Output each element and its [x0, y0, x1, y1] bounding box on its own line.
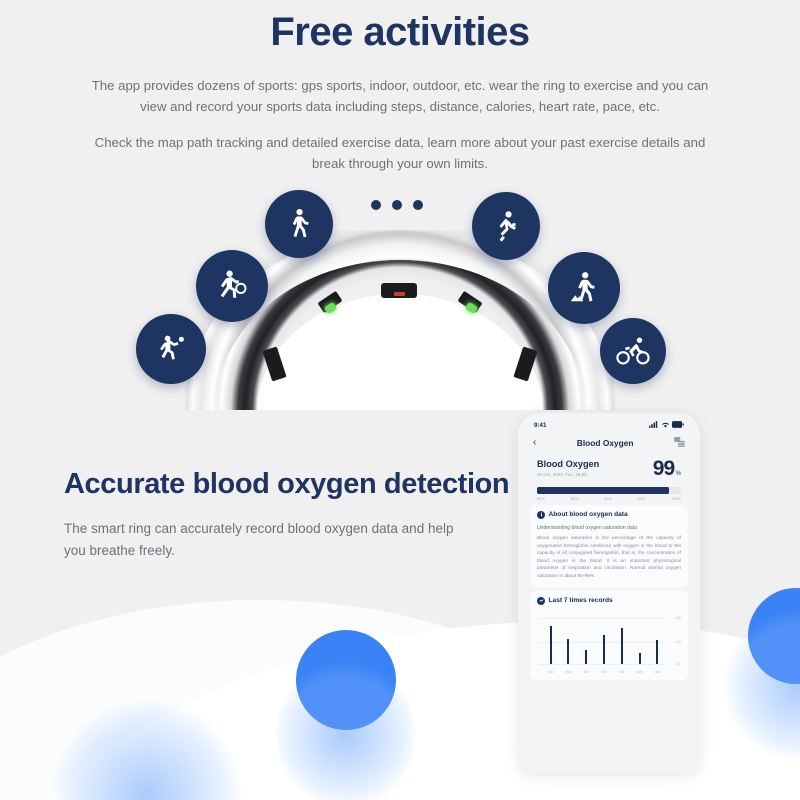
activities-paragraph-2: Check the map path tracking and detailed… [90, 132, 710, 174]
y-tick-label: 150 [675, 616, 681, 620]
chart-bar [621, 628, 623, 664]
gridline [539, 664, 665, 665]
activities-paragraph-1: The app provides dozens of sports: gps s… [80, 75, 720, 117]
chart-bar [656, 640, 658, 664]
chart-icon [537, 597, 545, 605]
chart-x-label: 000 [581, 670, 592, 674]
spo2-heading: Accurate blood oxygen detection [64, 468, 509, 501]
y-tick-label: 100 [675, 640, 681, 644]
badge-racquet-sports[interactable] [136, 314, 206, 384]
status-time: 9:41 [534, 422, 546, 429]
basketball-icon [214, 268, 250, 304]
chart-x-label: 000 [563, 670, 574, 674]
about-card-title: About blood oxygen data [549, 511, 628, 518]
spo2-scale: 80% 85% 90% 95% 100% [537, 496, 681, 501]
battery-icon [672, 421, 684, 430]
spo2-unit: % [676, 471, 681, 477]
spo2-value: 99 [653, 459, 674, 479]
chart-x-label: 000 [545, 670, 556, 674]
chart-x-label: 000 [616, 670, 627, 674]
scale-tick: 85% [571, 496, 579, 501]
badge-basketball[interactable] [196, 250, 268, 322]
scale-tick: 95% [638, 496, 646, 501]
dot-1 [371, 200, 381, 210]
scale-tick: 90% [604, 496, 612, 501]
chart-bar-column [634, 616, 645, 664]
chart-bar-column [581, 616, 592, 664]
hiking-icon [566, 270, 602, 306]
scale-tick: 100% [671, 496, 681, 501]
back-button[interactable]: ‹ [533, 438, 536, 448]
chart-x-label: 000 [598, 670, 609, 674]
chart-bar-column [563, 616, 574, 664]
chart-x-label: 000 [634, 670, 645, 674]
about-card-body: Blood oxygen saturation is the percentag… [537, 535, 681, 581]
spo2-progress-track [537, 487, 681, 494]
spo2-value-group: 99 % [653, 459, 681, 479]
spo2-reading-date: 20 Oct, 2022, Tue, 18:59 [537, 472, 599, 477]
records-card-title: Last 7 times records [549, 597, 613, 604]
records-list-icon[interactable] [674, 434, 685, 452]
activities-section: Free activities The app provides dozens … [0, 0, 800, 410]
about-card-header: About blood oxygen data [537, 511, 681, 519]
chart-bar-column [652, 616, 663, 664]
badge-hiking[interactable] [548, 252, 620, 324]
badge-cycling[interactable] [600, 318, 666, 384]
records-card: Last 7 times records 150 100 50 00000000… [530, 591, 688, 680]
about-card-subtitle: Understanding blood oxygen saturation da… [537, 525, 681, 531]
badge-walking[interactable] [265, 190, 333, 258]
chart-bar-column [545, 616, 556, 664]
phone-mockup: 9:41 ‹ Blood [518, 413, 700, 773]
running-icon [489, 209, 523, 243]
y-tick-label: 50 [677, 662, 681, 666]
spo2-progress-fill [537, 487, 669, 494]
chart-x-labels: 000000000000000000000 [545, 670, 663, 674]
signal-icon [649, 421, 658, 430]
navbar-title: Blood Oxygen [577, 438, 634, 448]
cycling-icon [616, 334, 650, 368]
chart-bar [585, 650, 587, 663]
chart-bar [567, 639, 569, 664]
spo2-reading-text: Blood Oxygen 20 Oct, 2022, Tue, 18:59 [537, 459, 599, 477]
decor-glow-1 [276, 660, 416, 800]
spo2-reading-card: Blood Oxygen 20 Oct, 2022, Tue, 18:59 99… [530, 456, 688, 501]
status-bar: 9:41 [525, 419, 693, 432]
chart-bar-column [616, 616, 627, 664]
badge-running[interactable] [472, 192, 540, 260]
scale-tick: 80% [537, 496, 545, 501]
about-spo2-card: About blood oxygen data Understanding bl… [530, 505, 688, 587]
info-icon [537, 511, 545, 519]
chart-bar [639, 653, 641, 664]
spo2-reading-label: Blood Oxygen [537, 459, 599, 469]
records-bar-chart: 150 100 50 000000000000000000000 [537, 612, 681, 674]
page-title: Free activities [0, 10, 800, 55]
racquet-sports-icon [154, 332, 188, 366]
chart-bar-column [598, 616, 609, 664]
walking-icon [282, 207, 316, 241]
dot-3 [413, 200, 423, 210]
dot-2 [392, 200, 402, 210]
records-card-header: Last 7 times records [537, 597, 681, 605]
chart-x-label: 000 [652, 670, 663, 674]
chart-bars [545, 616, 663, 664]
app-navbar: ‹ Blood Oxygen [525, 432, 693, 454]
chart-bar [550, 626, 552, 663]
spo2-reading-row: Blood Oxygen 20 Oct, 2022, Tue, 18:59 99… [537, 459, 681, 479]
ring-red-led [394, 292, 405, 296]
status-icons [649, 421, 684, 430]
more-activities-dots [371, 200, 423, 210]
spo2-paragraph: The smart ring can accurately record blo… [64, 518, 464, 562]
chart-bar [603, 635, 605, 664]
wifi-icon [661, 421, 670, 430]
